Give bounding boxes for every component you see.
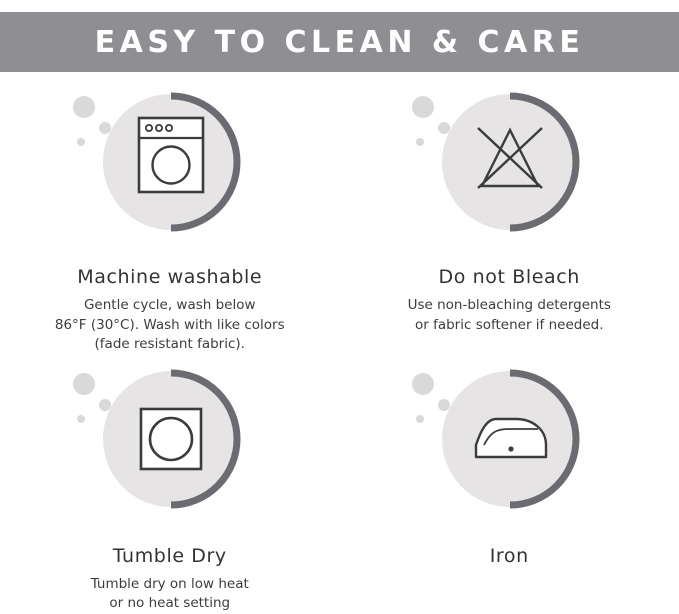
bubble-large-icon [73, 373, 95, 395]
item-title: Do not Bleach [439, 266, 580, 288]
item-title: Tumble Dry [113, 545, 227, 567]
bubble-large-icon [73, 96, 95, 118]
care-item-tumble-dry: Tumble Dry Tumble dry on low heat or no … [0, 355, 340, 614]
bubble-small-icon [416, 415, 424, 423]
care-item-machine-washable: Machine washable Gentle cycle, wash belo… [0, 78, 340, 355]
bubble-large-icon [412, 373, 434, 395]
bubble-small-icon [77, 415, 85, 423]
do-not-bleach-triangle-icon [442, 94, 578, 230]
care-items-grid: Machine washable Gentle cycle, wash belo… [0, 78, 679, 594]
icon-stage [394, 359, 624, 539]
item-description: Use non-bleaching detergents or fabric s… [408, 296, 611, 335]
item-title: Machine washable [77, 266, 262, 288]
icon-stage [394, 82, 624, 262]
care-item-do-not-bleach: Do not Bleach Use non-bleaching detergen… [340, 78, 679, 355]
header-banner: EASY TO CLEAN & CARE [0, 12, 679, 72]
item-description: Gentle cycle, wash below 86°F (30°C). Wa… [55, 296, 285, 355]
iron-icon [442, 371, 578, 507]
washing-machine-icon [103, 94, 239, 230]
care-instructions-page: EASY TO CLEAN & CARE [0, 0, 679, 594]
bubble-small-icon [416, 138, 424, 146]
care-item-iron: Iron [340, 355, 679, 614]
tumble-dry-icon [103, 371, 239, 507]
icon-stage [55, 359, 285, 539]
bubble-large-icon [412, 96, 434, 118]
bubble-small-icon [77, 138, 85, 146]
icon-stage [55, 82, 285, 262]
page-title: EASY TO CLEAN & CARE [95, 25, 585, 60]
item-title: Iron [490, 545, 529, 567]
item-description: Tumble dry on low heat or no heat settin… [91, 575, 249, 614]
